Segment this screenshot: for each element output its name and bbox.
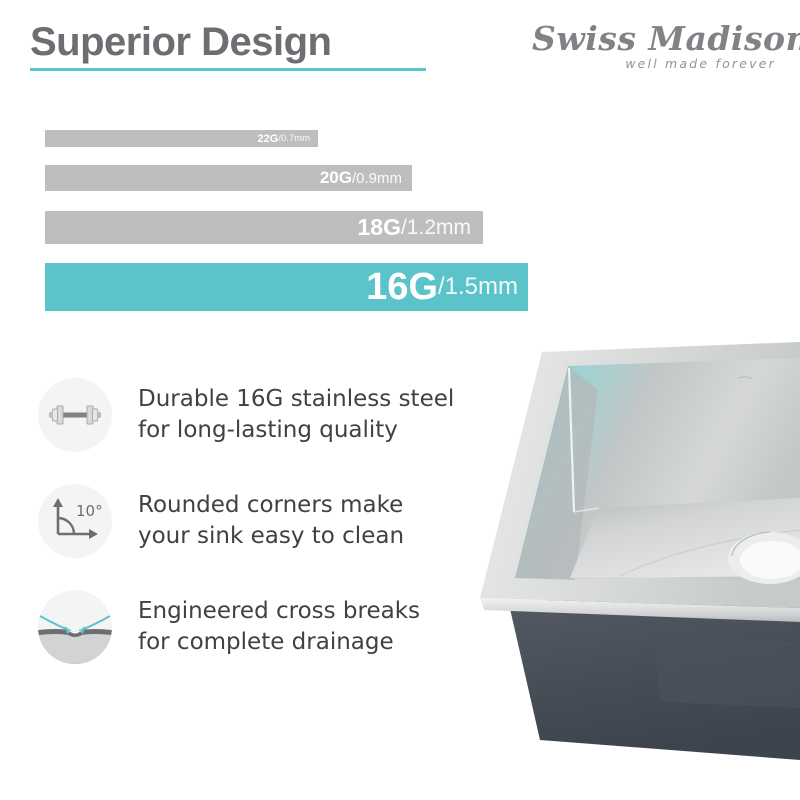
sink-undercoat-panel <box>655 640 800 708</box>
dumbbell-icon-svg <box>38 378 112 452</box>
gauge-bar-20g-thickness: 0.9mm <box>356 170 402 187</box>
feature-rounded-line2: your sink easy to clean <box>138 521 488 552</box>
gauge-bar-18g-thickness: 1.2mm <box>407 216 471 240</box>
gauge-bar-22g-thickness: 0.7mm <box>281 133 310 144</box>
gauge-bar-18g: 18G / 1.2mm <box>45 211 483 244</box>
gauge-bar-20g-gauge: 20G <box>320 168 352 188</box>
gauge-bar-16g-separator: / <box>438 273 445 301</box>
dumbbell-icon <box>38 378 112 452</box>
gauge-comparison-chart: 22G / 0.7mm 20G / 0.9mm 18G / 1.2mm 16G/… <box>0 0 800 340</box>
feature-item-durable: Durable 16G stainless steel for long-las… <box>38 372 488 478</box>
gauge-bar-16g: 16G/1.5mm <box>45 263 528 311</box>
feature-item-rounded-corners: 10° Rounded corners make your sink easy … <box>38 478 488 584</box>
cross-breaks-drainage-icon-svg <box>38 590 112 664</box>
gauge-bar-20g: 20G / 0.9mm <box>45 165 412 191</box>
angle-10-degree-icon: 10° <box>38 484 112 558</box>
feature-text-rounded-corners: Rounded corners make your sink easy to c… <box>138 490 488 552</box>
feature-durable-line1: Durable 16G stainless steel <box>138 386 454 412</box>
feature-text-durable: Durable 16G stainless steel for long-las… <box>138 384 488 446</box>
gauge-bar-22g-gauge: 22G <box>258 133 279 145</box>
feature-text-cross-breaks: Engineered cross breaks for complete dra… <box>138 596 488 658</box>
gauge-bar-18g-gauge: 18G <box>357 214 400 241</box>
feature-rounded-line1: Rounded corners make <box>138 492 403 518</box>
feature-durable-line2: for long-lasting quality <box>138 415 488 446</box>
feature-crossbreaks-line2: for complete drainage <box>138 627 488 658</box>
gauge-bar-16g-thickness: 1.5mm <box>445 273 518 301</box>
cross-breaks-drainage-icon <box>38 590 112 664</box>
sink-illustration <box>470 330 800 800</box>
gauge-bar-22g: 22G / 0.7mm <box>45 130 318 147</box>
angle-10-degree-icon-svg: 10° <box>38 484 112 558</box>
gauge-bar-16g-gauge: 16G <box>366 266 438 309</box>
feature-crossbreaks-line1: Engineered cross breaks <box>138 598 420 624</box>
product-photo-sink <box>470 330 800 800</box>
feature-item-cross-breaks: Engineered cross breaks for complete dra… <box>38 584 488 690</box>
angle-icon-label: 10° <box>76 502 103 520</box>
feature-list: Durable 16G stainless steel for long-las… <box>38 372 488 690</box>
